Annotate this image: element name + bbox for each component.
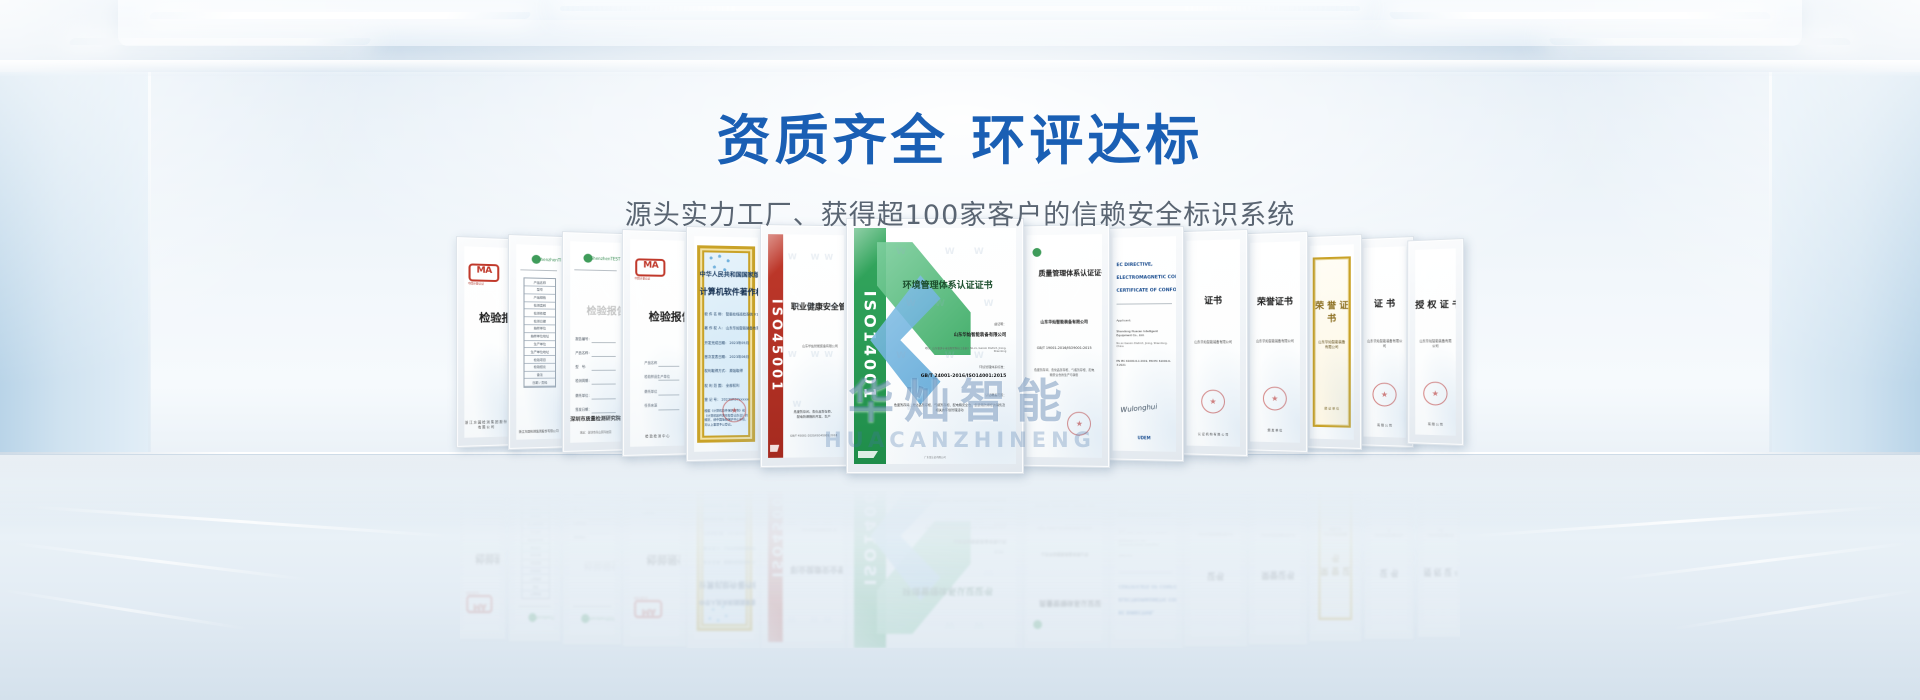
certificate-title: 检验报告 <box>587 302 621 317</box>
standard-code: GB/T 24001-2016/ISO14001:2015 <box>921 374 1007 379</box>
certificate-footer: 浙 江 方 圆 检 测 集 团 股 份 有 限 公 司 <box>464 419 507 430</box>
certificate-mat: 证 书山东华灿智能装备有限公司有 限 公 司 <box>1363 246 1405 437</box>
company-name: 山东华灿智能装备有限公司 <box>1418 338 1452 348</box>
w-watermark: W <box>811 253 820 262</box>
mca-badge-caption: 中国计量认证 <box>635 277 651 281</box>
certificate-footer: 浙江方圆检测集团股份有限公司 <box>516 429 561 434</box>
certificate-paper: ISO45001 职业健康安全管理体系认证证书山东华灿智能装备有限公司危废暂存间… <box>768 234 844 458</box>
field-rule <box>592 356 616 357</box>
company-name: 山东华灿智能装备有限公司 <box>1034 319 1094 325</box>
certificate-frame[interactable]: 荣誉证书山东华灿智能装备有限公司颁 发 单 位 <box>1242 231 1308 453</box>
certificate-mat: ISO45001 职业健康安全管理体系认证证书山东华灿智能装备有限公司危废暂存间… <box>768 234 844 458</box>
certificate-mat: ShenzhenTEST检验报告报告编号：产品名称：型 号：检测周期：委托单位：… <box>570 241 620 443</box>
header-rule <box>1116 303 1172 305</box>
certificate-frame[interactable]: 荣 誉 证 书 山东华灿智能装备有限公司 颁 证 单 位 <box>1302 234 1362 450</box>
certificate-mat: ISO14001 环境管理体系认证证书兹证明：山东华灿智能装备有限公司地址：山东… <box>854 228 1016 464</box>
table-row: 日期 / 页码 <box>525 379 555 387</box>
certificate-paper: 证 书山东华灿智能装备有限公司有 限 公 司 <box>1363 246 1405 437</box>
certificate-field: 登 记 号： 2023SR07xxxxx <box>705 396 749 401</box>
certificate-title: 证 书 <box>1363 296 1405 310</box>
official-seal-icon <box>1201 389 1225 413</box>
certificate-mat: MA中国计量认证检验报告浙 江 方 圆 检 测 集 团 股 份 有 限 公 司 <box>464 246 507 437</box>
certificate-title: 检验报告 <box>479 310 507 326</box>
signature: Wulonghui <box>1120 403 1157 414</box>
official-seal-icon <box>1263 386 1287 410</box>
certificate-frame[interactable]: 质量管理体系认证证书山东华灿智能装备有限公司GB/T 19001-2016/IS… <box>1019 224 1110 468</box>
company-name: 山东华灿智能装备有限公司 <box>1254 338 1296 343</box>
field-rule <box>592 412 616 413</box>
certificate-field: 检验样品生产单位 <box>644 374 670 379</box>
table-row: 备注 <box>525 371 555 379</box>
certificate-field: 权 利 范 围： 全部权利 <box>705 382 740 387</box>
certificate-paper: 荣誉证书山东华灿智能装备有限公司颁 发 单 位 <box>1250 241 1300 443</box>
company-label: 兹证明： <box>994 322 1006 326</box>
certificate-wall: MA中国计量认证检验报告浙 江 方 圆 检 测 集 团 股 份 有 限 公 司S… <box>460 228 1460 478</box>
certificate-mat: 授 权 证 书山东华灿智能装备有限公司有 限 公 司 <box>1415 248 1456 435</box>
emblem-graphic <box>854 228 1016 464</box>
certificate-mat: 证书山东华灿智能装备有限公司认 证 机 构 有 限 公 司 <box>1187 239 1240 447</box>
lab-logo-text: ShenzhenTEST <box>538 257 561 263</box>
certificate-frame[interactable]: EC DIRECTIVE,ELECTROMAGNETIC COMPATIBILI… <box>1105 226 1184 462</box>
certificate-paper: 质量管理体系认证证书山东华灿智能装备有限公司GB/T 19001-2016/IS… <box>1027 234 1102 458</box>
detail-table: 产品名称型号产品规格检测类别检测依据检测日期抽样单位抽样单位地址生产单位生产单位… <box>524 278 556 388</box>
certificate-footer: 根据《计算机软件保护条例》和《计算机软件著作权登记办法》的规定，经中国版权保护中… <box>705 409 748 427</box>
w-watermark: W <box>935 299 945 309</box>
certificate-title: 荣誉证书 <box>1250 294 1300 308</box>
certificate-footer: 颁 证 单 位 <box>1314 406 1349 411</box>
mca-badge: MA <box>469 264 500 283</box>
field-rule <box>592 370 616 371</box>
certificate-frame[interactable]: ShenzhenTEST检验报告报告编号：产品名称：型 号：检测周期：委托单位：… <box>562 231 629 453</box>
w-watermark: W <box>906 403 916 413</box>
issuer-name: UDEM <box>1113 435 1176 441</box>
certificate-footer: 有 限 公 司 <box>1415 421 1456 426</box>
certificate-field: 著 作 权 人： 山东华灿智能装备有限公司 <box>705 326 759 331</box>
applicant-address: No.xx Gaoxin District, Jining, Shandong,… <box>1116 342 1172 348</box>
banner-subtitle: 源头实力工厂、获得超100家客户的信赖安全标识系统 <box>0 193 1920 232</box>
certificate-title-line2: ELECTROMAGNETIC COMPATIBILITY DIRECTIVE <box>1116 274 1176 281</box>
scope-text: 危废暂存间、危化品暂存柜、 配电防爆箱的开发、生产 <box>788 409 840 419</box>
iso-ribbon: ISO45001 <box>768 234 783 458</box>
scope-text: 危废暂存间、危化品暂存柜、气瓶暂存柜、配电箱安全仓的生产与销售 <box>1034 368 1094 377</box>
company-name: 山东华灿智能装备有限公司 <box>954 332 1007 338</box>
lab-logo-text: ShenzhenTEST <box>591 256 621 262</box>
ornate-border: 中华人民共和国国家版权局 计算机软件著作权登记证书软 件 名 称： 智能在线巡检… <box>697 245 756 443</box>
certificate-paper: 授 权 证 书山东华灿智能装备有限公司有 限 公 司 <box>1415 248 1456 435</box>
field-rule <box>658 366 678 367</box>
field-rule <box>592 398 616 399</box>
w-watermark: W <box>906 299 916 309</box>
official-seal-icon <box>1372 383 1396 407</box>
official-seal-icon <box>1067 411 1091 435</box>
certificate-title: 授 权 证 书 <box>1415 297 1456 311</box>
standard-label: 环境管理体系标准： <box>979 365 1006 369</box>
heading-block: 资质齐全 环评达标 源头实力工厂、获得超100家客户的信赖安全标识系统 <box>0 0 1920 232</box>
certificate-mat: EC DIRECTIVE,ELECTROMAGNETIC COMPATIBILI… <box>1113 236 1176 452</box>
w-watermark: W <box>945 351 955 361</box>
w-watermark: W <box>788 252 797 261</box>
header-rule <box>574 270 616 272</box>
w-watermark: W <box>788 350 797 359</box>
certificate-paper: 荣 誉 证 书 山东华灿智能装备有限公司 颁 证 单 位 <box>1310 244 1354 439</box>
certificate-frame[interactable]: 授 权 证 书山东华灿智能装备有限公司有 限 公 司 <box>1407 238 1464 446</box>
table-row: 检验项目 <box>525 356 555 364</box>
certificate-field: 产品名称： <box>575 350 591 355</box>
field-rule <box>592 342 616 343</box>
certificate-title: 检验报告 <box>649 308 685 324</box>
company-name: 山东华灿智能装备有限公司 <box>802 344 838 348</box>
certificate-mat: 荣 誉 证 书 山东华灿智能装备有限公司 颁 证 单 位 <box>1310 244 1354 439</box>
standard-code: GB/T 19001-2016/ISO9001:2015 <box>1034 346 1094 350</box>
certificate-paper: MA中国计量认证检验报告产品名称检验样品生产单位委托单位任务来源检 验 检 测 … <box>630 239 684 447</box>
table-row: 生产单位地址 <box>525 348 555 356</box>
certificate-header: 中华人民共和国国家版权局 <box>700 269 753 279</box>
field-rule <box>658 394 678 395</box>
certificate-address: 地址：深圳市南山区科技园 <box>570 430 620 435</box>
applicant-name: Shandong Huacan Intelligent Equipment Co… <box>1116 329 1172 337</box>
field-rule <box>658 380 678 381</box>
certificate-title: 质量管理体系认证证书 <box>1039 268 1102 279</box>
iso-standard-label: ISO45001 <box>768 299 783 393</box>
certificate-mat: ShenzhenTEST产品名称型号产品规格检测类别检测依据检测日期抽样单位抽样… <box>516 244 561 439</box>
w-watermark: W <box>824 350 833 359</box>
table-row: 检验结论 <box>525 364 555 372</box>
certificate-title-line1: EC DIRECTIVE, <box>1116 262 1152 268</box>
certificate-frame[interactable]: ShenzhenTEST产品名称型号产品规格检测类别检测依据检测日期抽样单位抽样… <box>508 234 569 450</box>
certificate-field: 权利取得方式： 原始取得 <box>705 368 743 373</box>
company-name: 山东华灿智能装备有限公司 <box>1367 338 1403 348</box>
certificate-paper: 中华人民共和国国家版权局 计算机软件著作权登记证书软 件 名 称： 智能在线巡检… <box>694 236 758 452</box>
w-watermark: W <box>974 351 984 361</box>
certificate-paper: 证书山东华灿智能装备有限公司认 证 机 构 有 限 公 司 <box>1187 239 1240 447</box>
certificate-footer: 颁 发 单 位 <box>1250 428 1300 433</box>
certificate-field: 委托单位 <box>644 388 657 393</box>
banner-stage: 资质齐全 环评达标 源头实力工厂、获得超100家客户的信赖安全标识系统 MA中国… <box>0 0 1920 700</box>
certificate-paper: ShenzhenTEST产品名称型号产品规格检测类别检测依据检测日期抽样单位抽样… <box>516 244 561 439</box>
w-watermark: W <box>974 247 984 257</box>
table-row: 生产单位 <box>525 341 555 349</box>
certificate-field: 首次发表日期： 2023年06月 <box>705 354 750 359</box>
company-address: 地址：山东省济宁市高新区科技工业园 / No.xx, Gaoxin Distri… <box>922 346 1006 353</box>
certificate-mat: MA中国计量认证检验报告产品名称检验样品生产单位委托单位任务来源检 验 检 测 … <box>630 239 684 447</box>
certificate-paper: ISO14001 环境管理体系认证证书兹证明：山东华灿智能装备有限公司地址：山东… <box>854 228 1016 464</box>
certificate-frame[interactable]: 中华人民共和国国家版权局 计算机软件著作权登记证书软 件 名 称： 智能在线巡检… <box>686 226 766 462</box>
certificate-mat: 中华人民共和国国家版权局 计算机软件著作权登记证书软 件 名 称： 智能在线巡检… <box>694 236 758 452</box>
certificate-footer: 有 限 公 司 <box>1363 423 1405 428</box>
company-name: 山东华灿智能装备有限公司 <box>1317 339 1346 349</box>
certificate-title: 环境管理体系认证证书 <box>903 278 993 291</box>
certificate-frame[interactable]: ISO14001 环境管理体系认证证书兹证明：山东华灿智能装备有限公司地址：山东… <box>846 218 1024 474</box>
table-row: 抽样单位地址 <box>525 333 555 341</box>
certificate-frame[interactable]: ISO45001 职业健康安全管理体系认证证书山东华灿智能装备有限公司危废暂存间… <box>760 224 852 468</box>
cert-body-logo-icon <box>1033 248 1042 257</box>
certificate-paper: MA中国计量认证检验报告浙 江 方 圆 检 测 集 团 股 份 有 限 公 司 <box>464 246 507 437</box>
w-watermark: W <box>792 301 801 310</box>
certificate-footer: 深圳市质量检测研究院 <box>570 415 620 423</box>
scope-label: 认证覆盖范围： <box>985 393 1006 397</box>
certificate-field: 软 件 名 称： 智能在线巡检系统 V1.0 <box>705 311 759 316</box>
certificate-mat: 荣誉证书山东华灿智能装备有限公司颁 发 单 位 <box>1250 241 1300 443</box>
certificate-frame[interactable]: MA中国计量认证检验报告浙 江 方 圆 检 测 集 团 股 份 有 限 公 司 <box>456 236 515 448</box>
field-rule <box>658 409 678 410</box>
certificate-title: 荣 誉 证 书 <box>1314 298 1349 324</box>
certificate-field: 签发日期： <box>575 406 591 411</box>
w-watermark: W <box>824 253 833 262</box>
official-seal-icon <box>722 398 746 422</box>
official-seal-icon <box>1423 381 1447 405</box>
certificate-frame[interactable]: MA中国计量认证检验报告产品名称检验样品生产单位委托单位任务来源检 验 检 测 … <box>622 229 692 457</box>
certificate-mat: 质量管理体系认证证书山东华灿智能装备有限公司GB/T 19001-2016/IS… <box>1027 234 1102 458</box>
certificate-field: 委托单位： <box>575 392 591 397</box>
certificate-field: 报告编号： <box>575 336 591 341</box>
w-watermark: W <box>945 247 955 257</box>
certificate-paper: ShenzhenTEST检验报告报告编号：产品名称：型 号：检测周期：委托单位：… <box>570 241 620 443</box>
mca-badge: MA <box>636 258 666 277</box>
certificate-field: 型 号： <box>575 364 588 369</box>
certificate-frame[interactable]: 证 书山东华灿智能装备有限公司有 限 公 司 <box>1356 236 1414 448</box>
company-name: 山东华灿智能装备有限公司 <box>1191 339 1236 344</box>
certificate-field: 产品名称 <box>644 360 657 365</box>
banner-title: 资质齐全 环评达标 <box>0 0 1920 175</box>
certificate-title-line3: CERTIFICATE OF CONFORMITY <box>1116 288 1176 294</box>
certificate-field: 任务来源 <box>644 403 657 408</box>
header-rule <box>521 270 557 272</box>
standard-code: EN IEC 61000-6-1:2019, EN IEC 61000-6-3:… <box>1116 359 1172 367</box>
certificate-title: 计算机软件著作权登记证书 <box>700 286 753 298</box>
w-watermark: W <box>811 350 820 359</box>
certificate-frame[interactable]: 证书山东华灿智能装备有限公司认 证 机 构 有 限 公 司 <box>1179 229 1248 457</box>
ribbon-highlight <box>768 234 783 292</box>
w-watermark: W <box>896 247 906 257</box>
certificate-title: 证书 <box>1187 293 1240 307</box>
mca-badge-caption: 中国计量认证 <box>468 281 484 285</box>
certificate-footer: 检 验 检 测 中 心 <box>630 432 684 438</box>
w-watermark: W <box>896 351 906 361</box>
certificate-field: 开发完成日期： 2023年05月 <box>705 340 750 345</box>
w-watermark: W <box>792 400 801 409</box>
ribbon-notch <box>770 445 779 452</box>
certificate-paper: EC DIRECTIVE,ELECTROMAGNETIC COMPATIBILI… <box>1113 236 1176 452</box>
w-watermark: W <box>829 302 838 311</box>
certification-body: 广东某认证有限公司 <box>854 455 1016 459</box>
gold-border: 荣 誉 证 书 山东华灿智能装备有限公司 颁 证 单 位 <box>1312 256 1351 428</box>
scope-text: 危废暂存间、危化品暂存柜、气瓶暂存柜、配电箱安全仓、集装箱防爆柜的销售及相关的环… <box>893 403 1006 413</box>
certificate-footer: 认 证 机 构 有 限 公 司 <box>1187 431 1240 436</box>
applicant-label: Applicant: <box>1116 318 1131 322</box>
w-watermark: W <box>984 299 994 309</box>
w-watermark: W <box>806 301 815 310</box>
certificate-field: 检测周期： <box>575 378 591 383</box>
standard-code: GB/T 45001-2020/ISO45001:2018 <box>788 433 840 437</box>
table-row: 抽样单位 <box>525 325 555 333</box>
field-rule <box>592 384 616 385</box>
